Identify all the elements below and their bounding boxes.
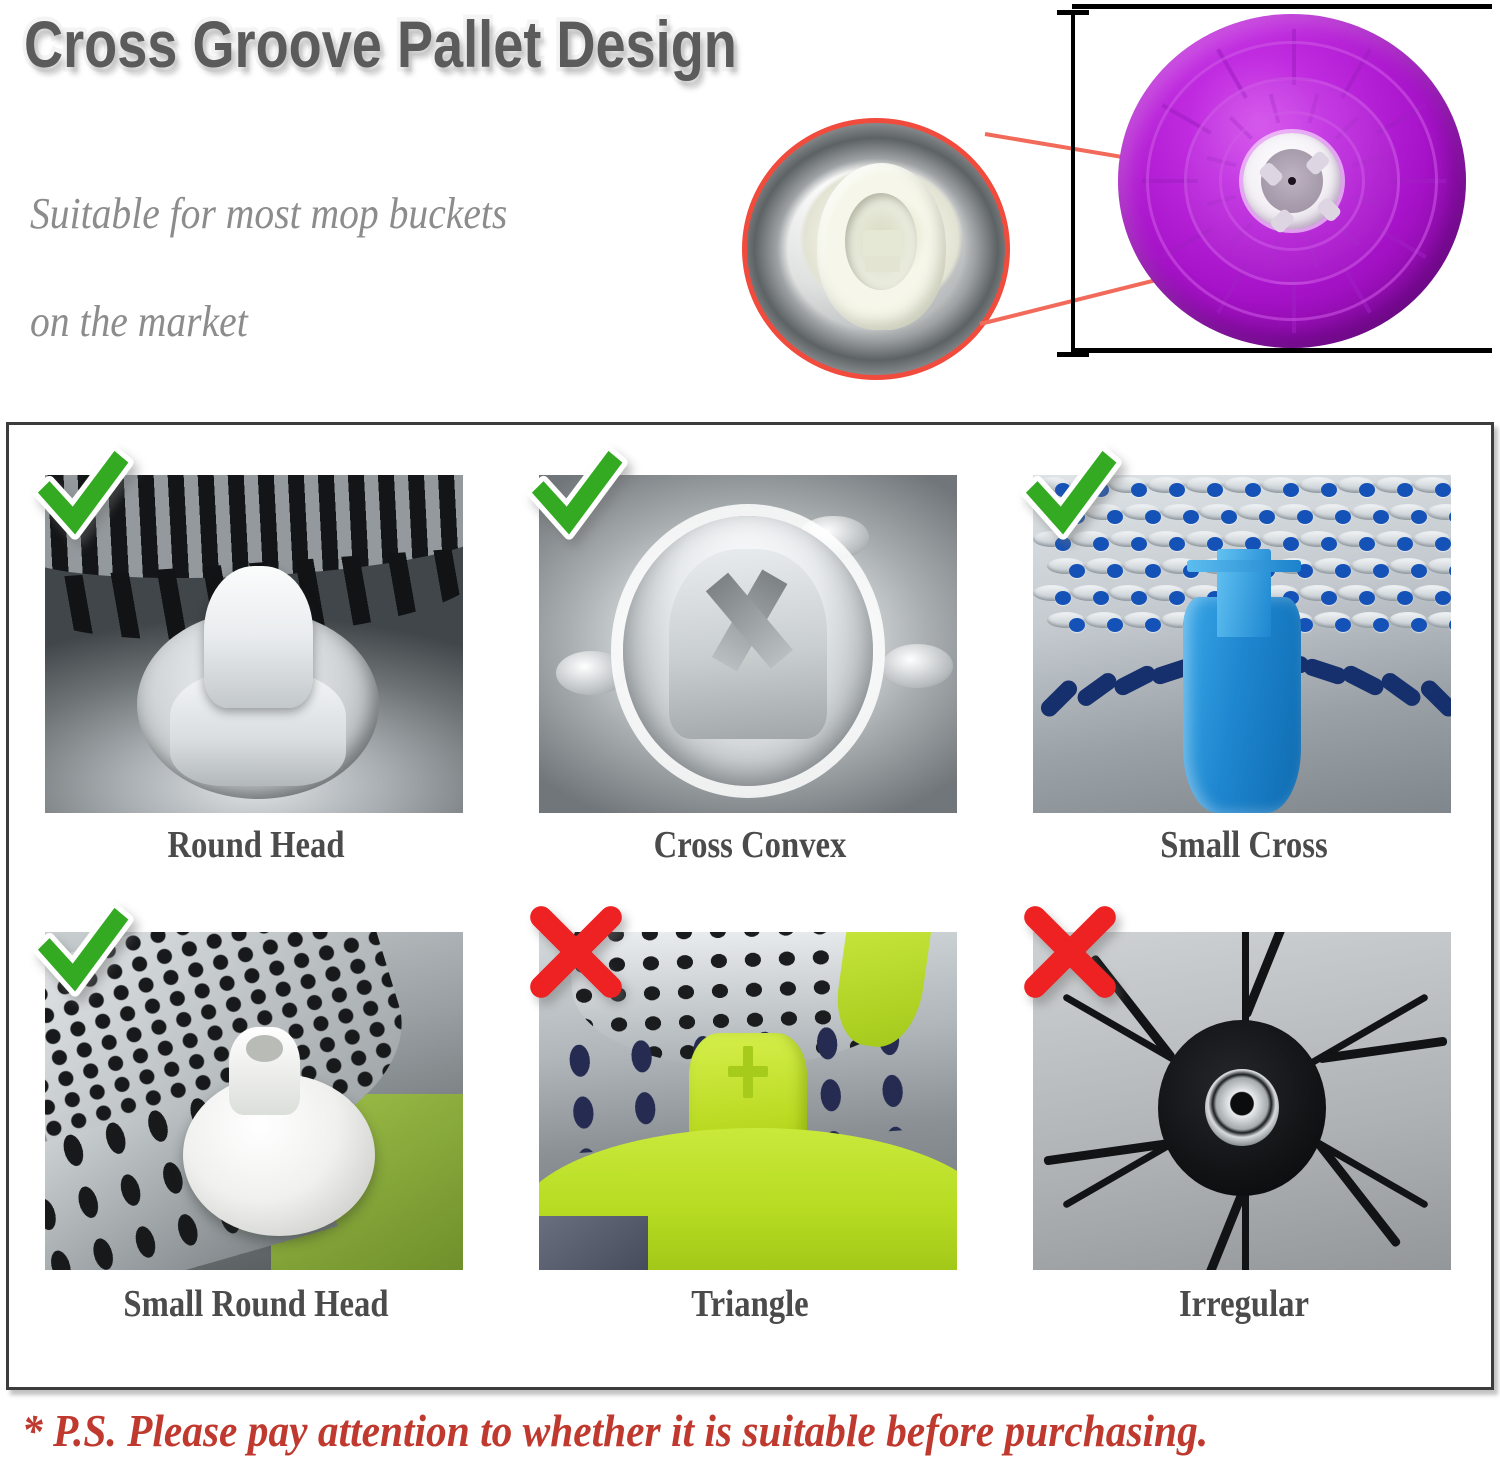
compat-label: Cross Convex xyxy=(538,823,963,867)
page-subtitle: Suitable for most mop buckets on the mar… xyxy=(30,160,660,376)
dimension-rule-bottom xyxy=(1072,348,1492,353)
photo-wrap xyxy=(1033,932,1451,1270)
check-icon xyxy=(23,437,141,553)
purchase-note: * P.S. Please pay attention to whether i… xyxy=(22,1404,1208,1457)
compat-label: Irregular xyxy=(1032,1282,1457,1326)
compat-item-round-head: Round Head xyxy=(9,425,503,906)
photo-wrap xyxy=(1033,475,1451,813)
hub-lobe xyxy=(1258,161,1285,188)
disc-center-hub xyxy=(1243,133,1340,230)
product-infographic: Cross Groove Pallet Design Suitable for … xyxy=(0,0,1500,1476)
dimension-bracket xyxy=(1062,6,1082,358)
magnified-socket-inset xyxy=(742,118,1010,380)
dimension-cap-bottom xyxy=(1057,352,1089,357)
compat-label: Round Head xyxy=(44,823,469,867)
compatibility-box: Round Head xyxy=(6,422,1494,1390)
compat-label: Small Round Head xyxy=(44,1282,469,1326)
cross-groove-socket-closeup xyxy=(817,163,946,329)
dimension-cap-top xyxy=(1057,10,1089,15)
photo-wrap xyxy=(45,475,463,813)
compat-item-cross-convex: Cross Convex xyxy=(503,425,997,906)
check-icon xyxy=(517,437,635,553)
dimension-bar xyxy=(1071,12,1075,352)
compat-item-small-round-head: Small Round Head xyxy=(9,906,503,1387)
cross-icon xyxy=(517,894,635,1010)
photo-wrap xyxy=(539,475,957,813)
page-title: Cross Groove Pallet Design xyxy=(24,6,737,82)
dimension-rule-top xyxy=(1072,4,1492,9)
purple-pallet-disc xyxy=(1118,14,1466,348)
photo-wrap xyxy=(45,932,463,1270)
compat-label: Triangle xyxy=(538,1282,963,1326)
compat-item-triangle: Triangle xyxy=(503,906,997,1387)
hub-lobe xyxy=(1304,150,1331,177)
compat-item-irregular: Irregular xyxy=(997,906,1491,1387)
compatibility-grid: Round Head xyxy=(9,425,1491,1387)
cross-icon xyxy=(1011,894,1129,1010)
check-icon xyxy=(23,894,141,1010)
compat-label: Small Cross xyxy=(1032,823,1457,867)
compat-item-small-cross: Small Cross xyxy=(997,425,1491,906)
photo-wrap xyxy=(539,932,957,1270)
check-icon xyxy=(1011,437,1129,553)
hub-center-dot xyxy=(1288,177,1296,185)
